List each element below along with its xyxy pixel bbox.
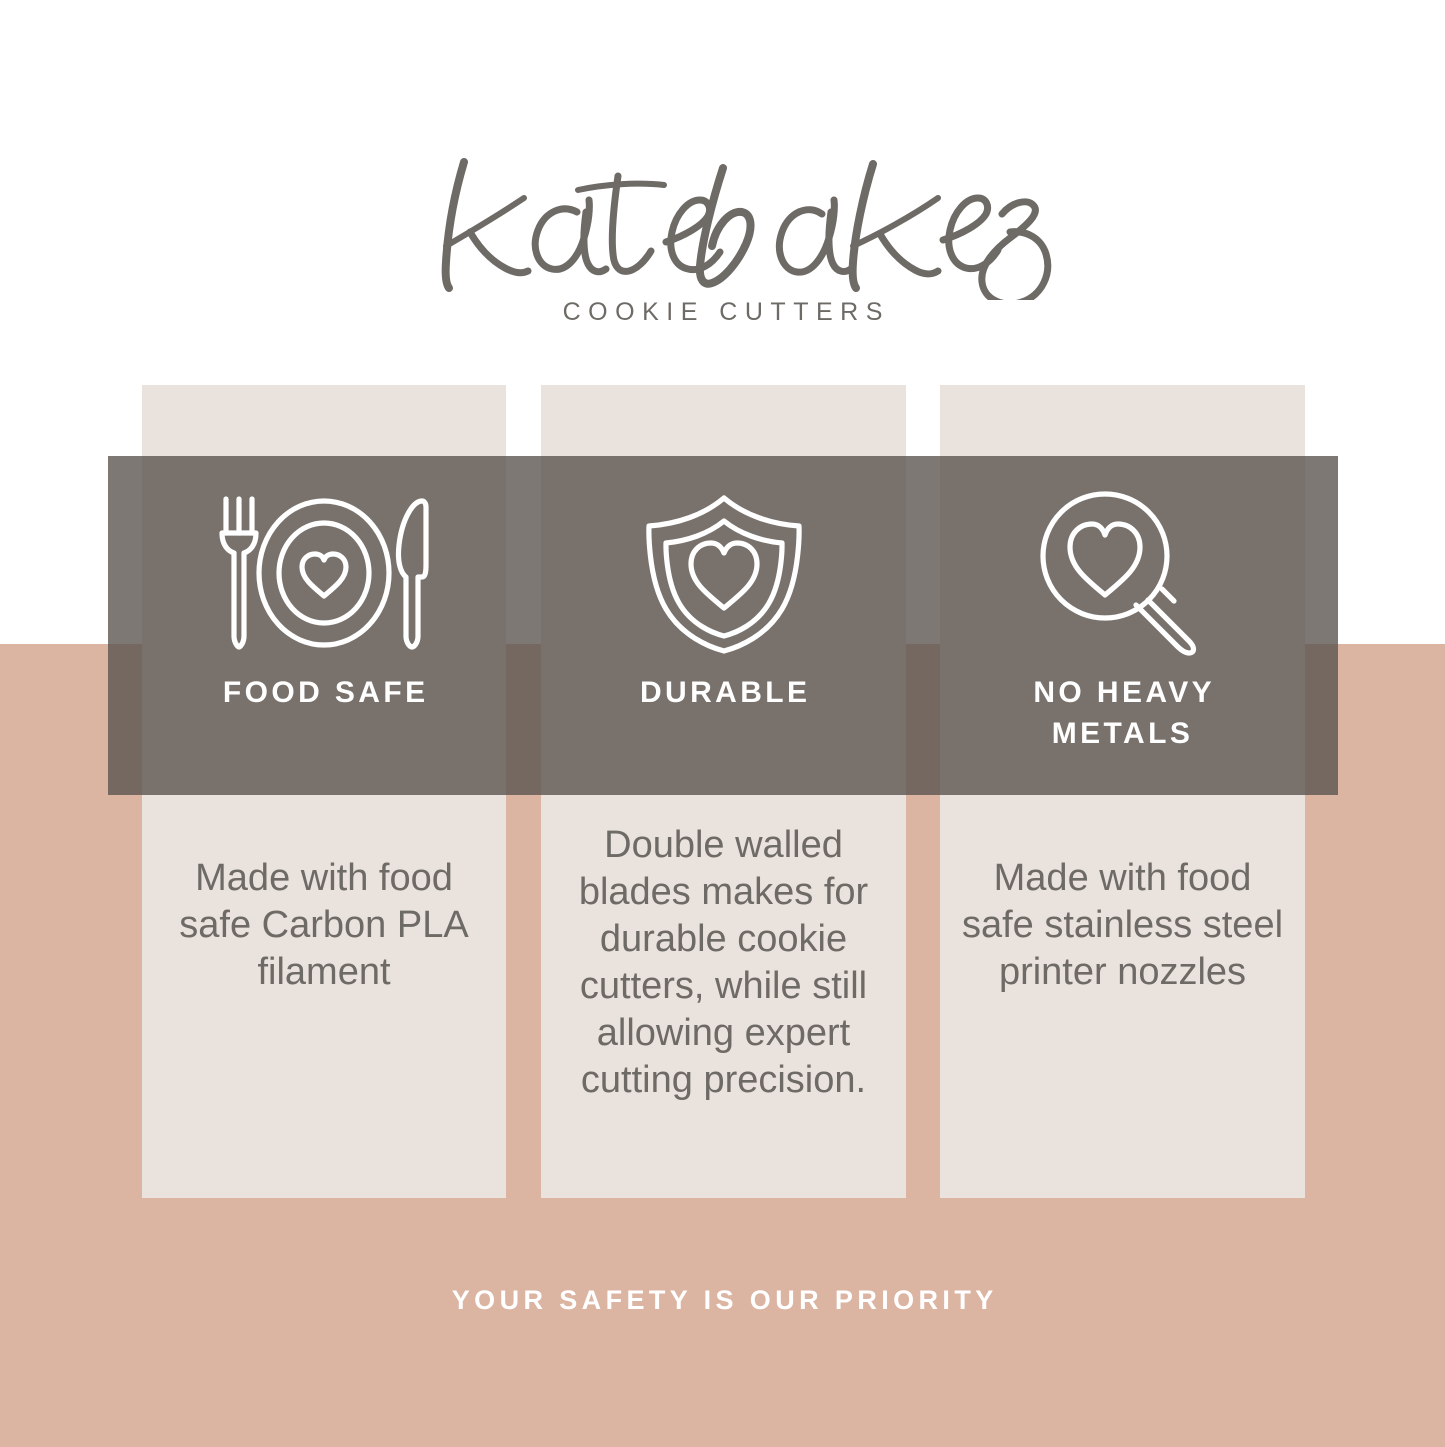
plate-fork-knife-heart-icon <box>142 490 506 655</box>
feature-cell-durable: DURABLE <box>541 456 906 795</box>
feature-cell-no-heavy-metals: NO HEAVY METALS <box>940 456 1305 795</box>
magnifier-heart-icon <box>940 490 1305 655</box>
feature-body-text: Made with food safe stainless steel prin… <box>940 855 1305 996</box>
brand-script-wordmark <box>0 150 1445 300</box>
brand-subtitle: COOKIE CUTTERS <box>0 298 1445 327</box>
feature-title: FOOD SAFE <box>142 672 506 713</box>
feature-cell-food-safe: FOOD SAFE <box>142 456 506 795</box>
brand-logo: COOKIE CUTTERS <box>0 150 1445 300</box>
feature-body-text: Double walled blades makes for durable c… <box>541 822 906 1104</box>
infographic-canvas: COOKIE CUTTERS Made with food safe Carbo… <box>0 0 1445 1447</box>
shield-heart-icon <box>541 490 906 655</box>
footer-tagline: YOUR SAFETY IS OUR PRIORITY <box>0 1285 1445 1316</box>
feature-body-text: Made with food safe Carbon PLA filament <box>142 855 506 996</box>
feature-icon-band: FOOD SAFE DURABLE <box>108 456 1338 795</box>
feature-title: DURABLE <box>541 672 906 713</box>
feature-title: NO HEAVY METALS <box>940 672 1305 754</box>
